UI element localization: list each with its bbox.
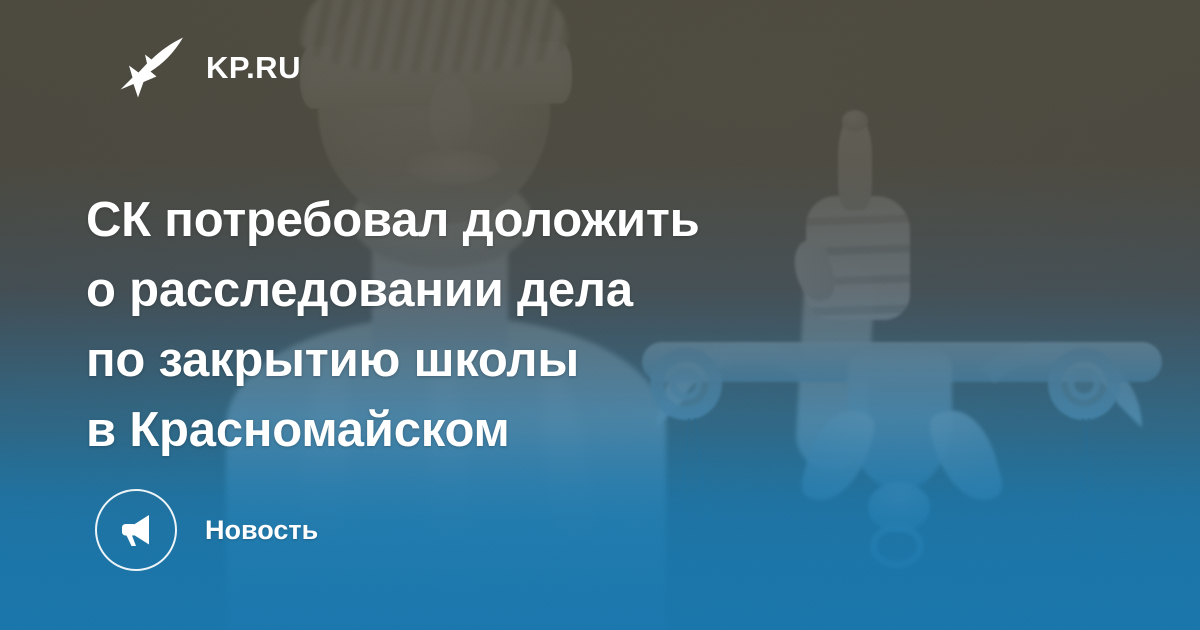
headline-line-3: по закрытию школы	[86, 325, 886, 395]
card-content: KP.RU СК потребовал доложить о расследов…	[0, 0, 1200, 630]
headline-line-1: СК потребовал доложить	[86, 185, 886, 255]
brand-name: KP.RU	[206, 52, 301, 83]
headline-line-2: о расследовании дела	[86, 255, 886, 325]
megaphone-icon	[116, 510, 156, 550]
badge-circle	[95, 489, 177, 571]
news-share-card: KP.RU СК потребовал доложить о расследов…	[0, 0, 1200, 630]
status-badge[interactable]: Новость	[95, 489, 318, 571]
headline-line-4: в Красномайском	[86, 395, 886, 465]
brand-lockup[interactable]: KP.RU	[112, 34, 301, 100]
badge-label: Новость	[205, 517, 318, 544]
page-title: СК потребовал доложить о расследовании д…	[86, 185, 886, 465]
swallow-bird-icon	[112, 34, 184, 100]
